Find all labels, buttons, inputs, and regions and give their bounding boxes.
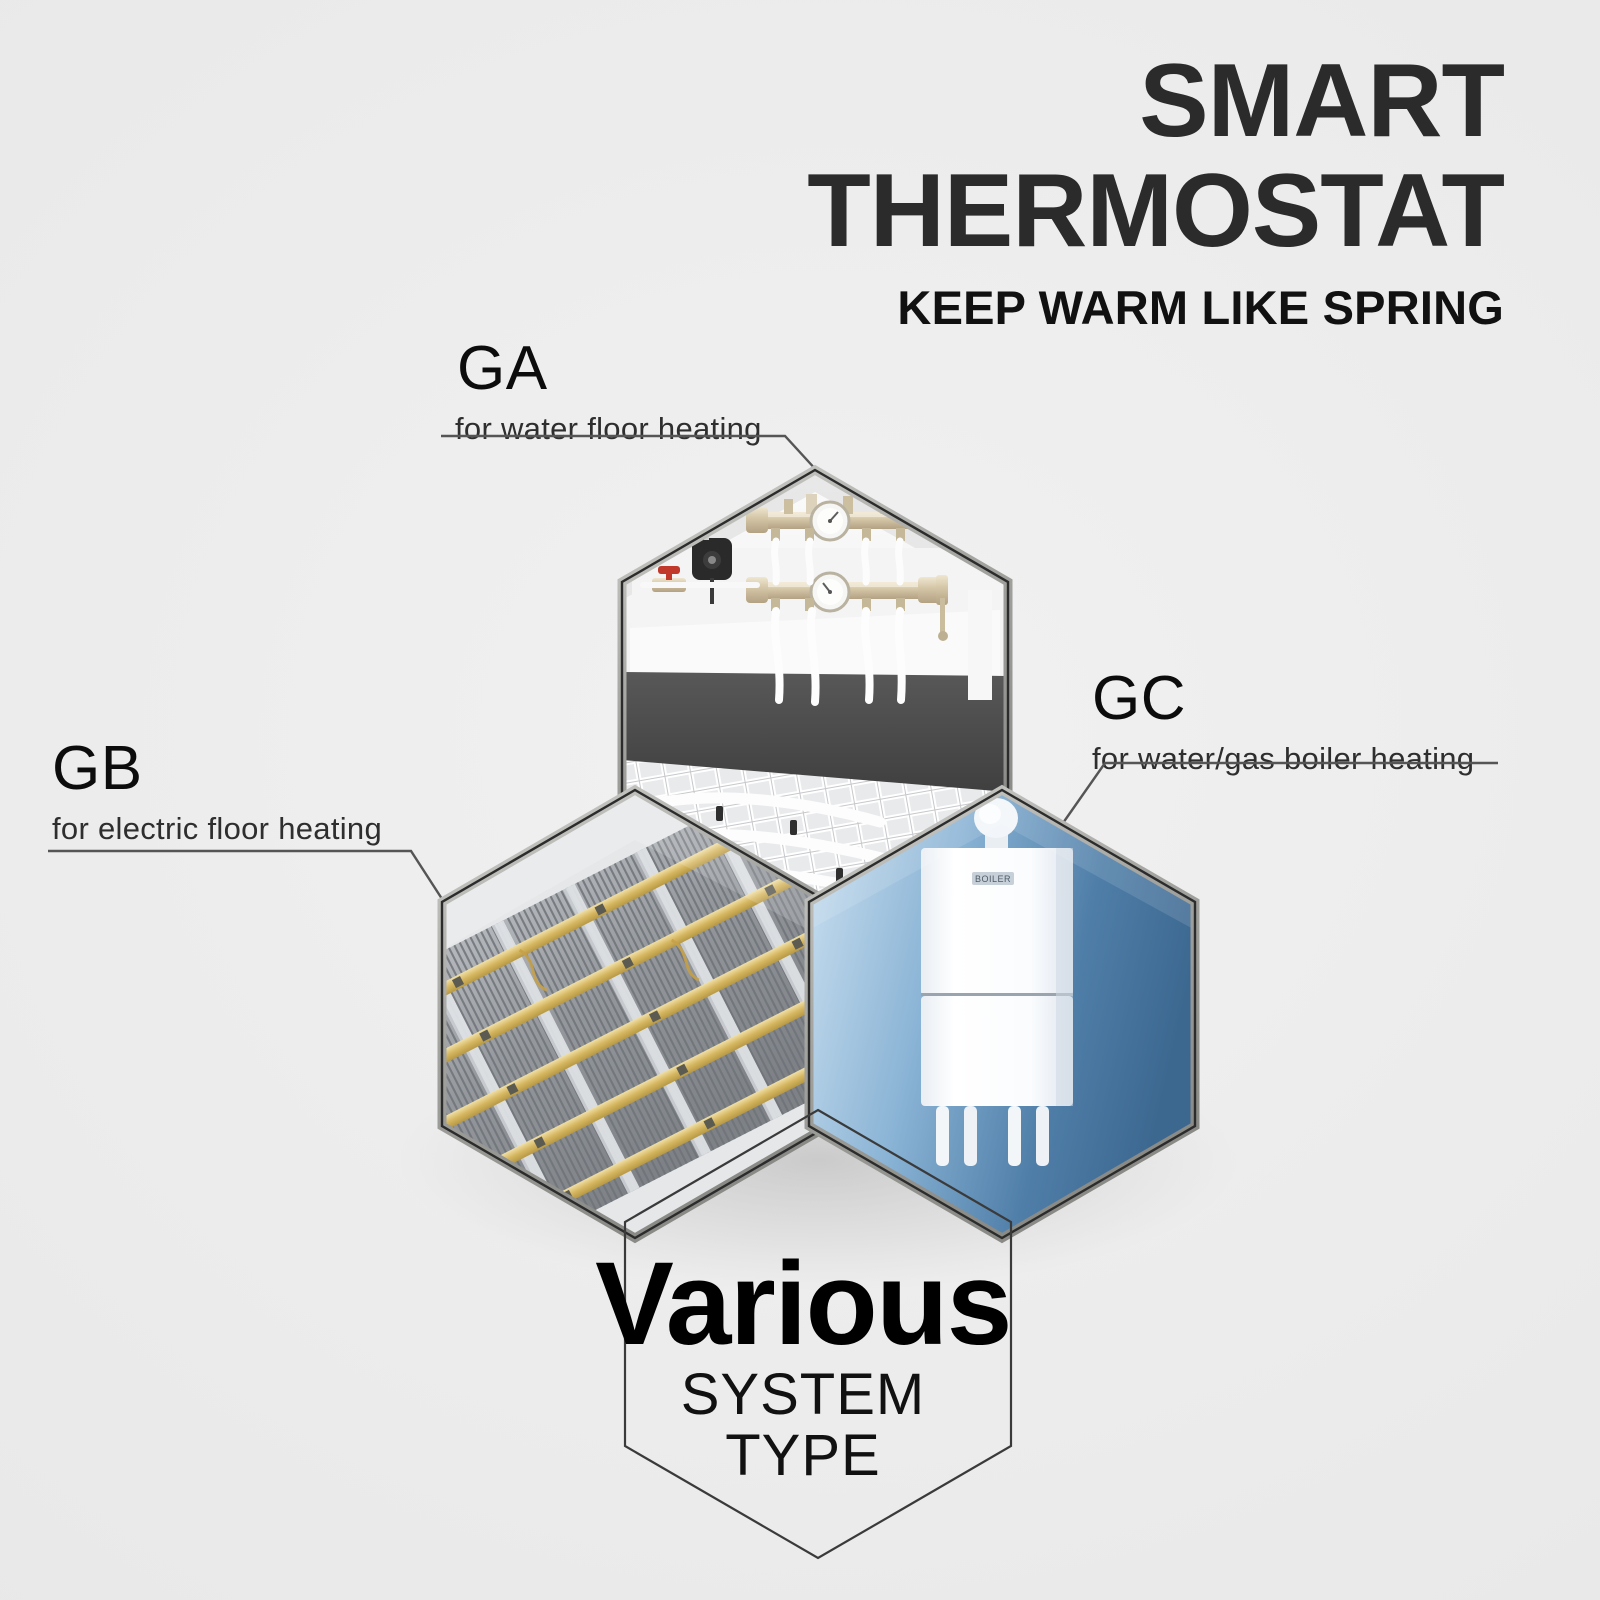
boiler-brand-badge: BOILER bbox=[975, 874, 1011, 884]
leader-line-gc bbox=[1063, 763, 1498, 823]
leader-line-ga bbox=[441, 436, 818, 472]
hexagon-cluster-artwork: BOILER bbox=[0, 0, 1600, 1600]
leader-line-gb bbox=[48, 851, 444, 902]
poster-root: SMART THERMOSTAT KEEP WARM LIKE SPRING G… bbox=[0, 0, 1600, 1600]
